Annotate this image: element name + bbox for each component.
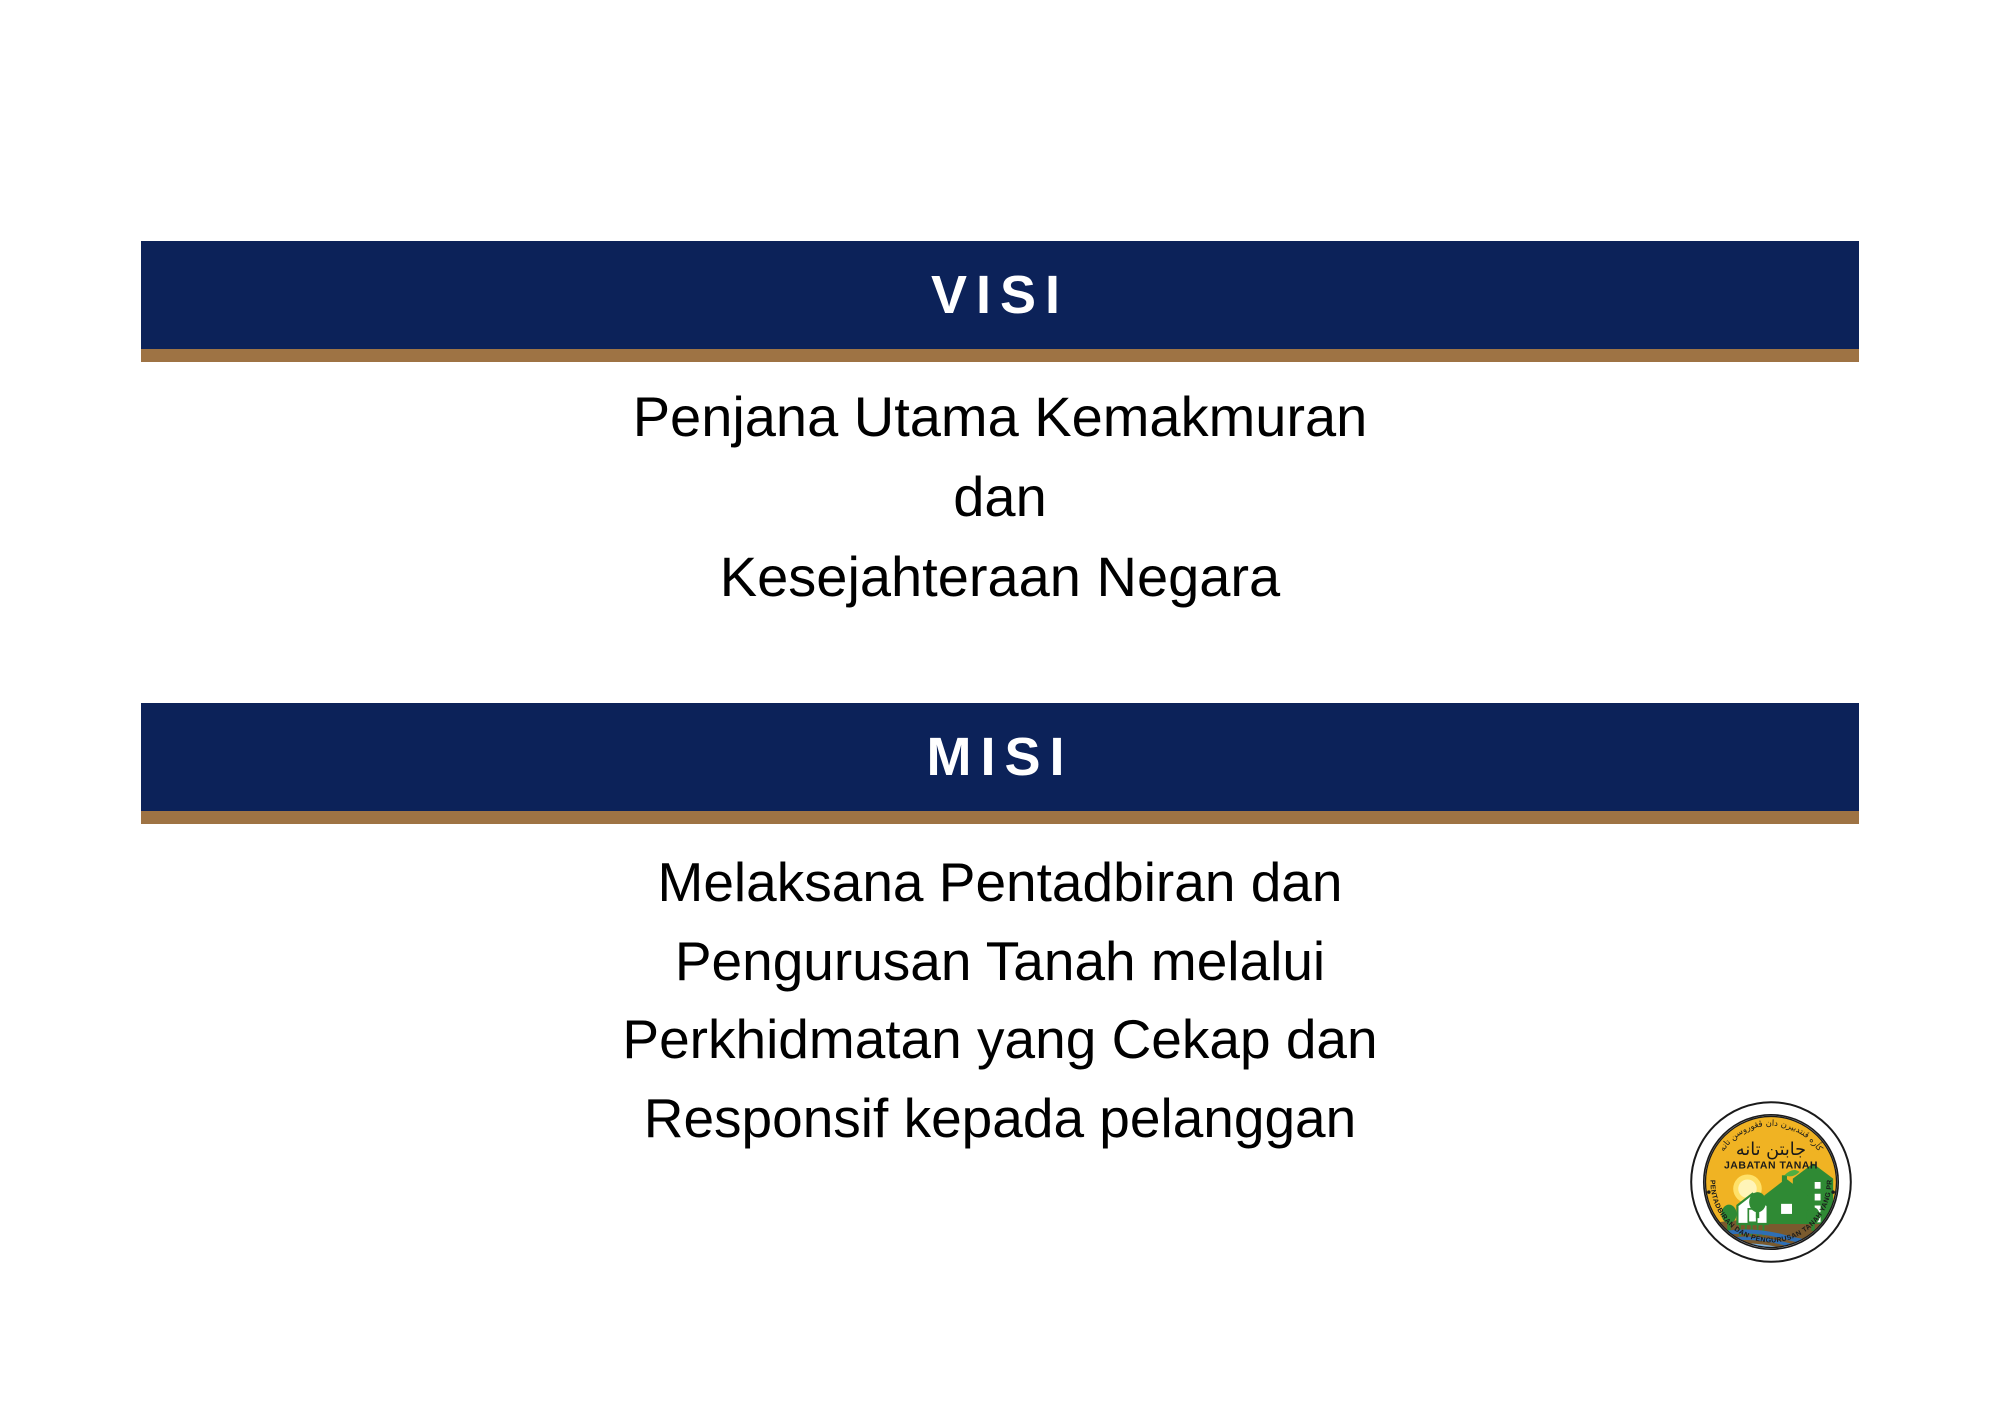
visi-heading: VISI xyxy=(931,268,1069,322)
visi-line-3: Kesejahteraan Negara xyxy=(141,537,1859,617)
misi-text-block: Melaksana Pentadbiran dan Pengurusan Tan… xyxy=(141,843,1859,1158)
misi-line-2: Pengurusan Tanah melalui xyxy=(141,922,1859,1001)
misi-line-3: Perkhidmatan yang Cekap dan xyxy=(141,1000,1859,1079)
visi-banner-underline xyxy=(141,349,1859,362)
visi-banner-bar: VISI xyxy=(141,241,1859,349)
visi-banner: VISI xyxy=(141,241,1859,362)
misi-banner-underline xyxy=(141,811,1859,824)
visi-text-block: Penjana Utama Kemakmuran dan Kesejahtera… xyxy=(141,377,1859,617)
visi-line-1: Penjana Utama Kemakmuran xyxy=(141,377,1859,457)
visi-line-2: dan xyxy=(141,457,1859,537)
logo-department-name: JABATAN TANAH xyxy=(1724,1160,1818,1172)
misi-heading: MISI xyxy=(926,730,1073,784)
misi-line-1: Melaksana Pentadbiran dan xyxy=(141,843,1859,922)
logo-jawi-text: جابتن تانه xyxy=(1736,1140,1806,1160)
misi-banner-bar: MISI xyxy=(141,703,1859,811)
misi-line-4: Responsif kepada pelanggan xyxy=(141,1079,1859,1158)
slide-canvas: VISI Penjana Utama Kemakmuran dan Keseja… xyxy=(0,0,2000,1414)
misi-banner: MISI xyxy=(141,703,1859,824)
jabatan-tanah-logo-icon: جابتن تانه JABATAN TANAH KEARAH PENTADBI… xyxy=(1687,1098,1855,1266)
